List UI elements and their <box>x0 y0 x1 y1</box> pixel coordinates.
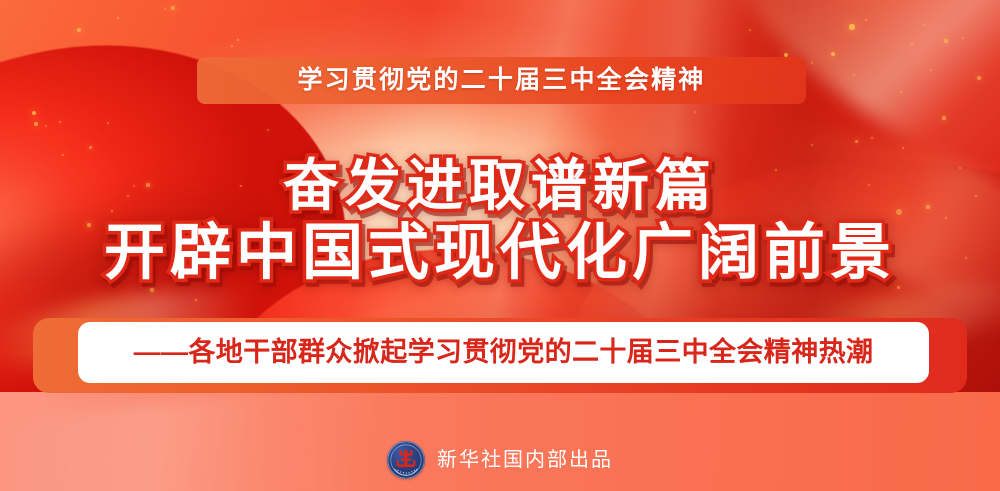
sparkle-dot <box>944 39 947 42</box>
sparkle-dot <box>865 19 867 21</box>
sparkle-dot <box>811 144 813 146</box>
sparkle-dot <box>749 29 751 31</box>
sparkle-dot <box>117 17 120 20</box>
top-banner-text: 学习贯彻党的二十届三中全会精神 <box>297 68 705 93</box>
sparkle-dot <box>171 6 174 9</box>
xinhua-news-agency-logo-icon <box>387 441 425 479</box>
subtitle-box[interactable]: ——各地干部群众掀起学习贯彻党的二十届三中全会精神热潮 <box>78 322 929 383</box>
sparkle-dot <box>962 37 964 39</box>
subtitle-text: ——各地干部群众掀起学习贯彻党的二十届三中全会精神热潮 <box>134 339 874 366</box>
sparkle-dot <box>855 140 858 143</box>
sparkle-dot <box>694 111 696 113</box>
credit-block: 新华社国内部出品 <box>0 439 1000 481</box>
sparkle-dot <box>831 52 835 56</box>
poster-canvas: 学习贯彻党的二十届三中全会精神 奋发进取谱新篇 开辟中国式现代化广阔前景 ——各… <box>0 0 1000 491</box>
sparkle-dot <box>231 45 233 47</box>
sparkle-dot <box>811 62 813 64</box>
sparkle-dot <box>942 116 946 120</box>
sparkle-dot <box>237 39 240 42</box>
top-banner[interactable]: 学习贯彻党的二十届三中全会精神 <box>197 57 806 104</box>
sparkle-dot <box>902 147 905 150</box>
sparkle-dot <box>923 24 925 26</box>
sparkle-dot <box>977 76 981 80</box>
sparkle-dot <box>871 137 873 139</box>
sparkle-dot <box>930 69 932 71</box>
sparkle-dot <box>853 74 855 76</box>
sparkle-dot <box>164 8 166 10</box>
sparkle-dot <box>911 43 914 46</box>
sparkle-dot <box>77 28 81 32</box>
sparkle-dot <box>849 24 854 29</box>
credit-text: 新华社国内部出品 <box>437 450 613 470</box>
sparkle-dot <box>900 91 903 94</box>
